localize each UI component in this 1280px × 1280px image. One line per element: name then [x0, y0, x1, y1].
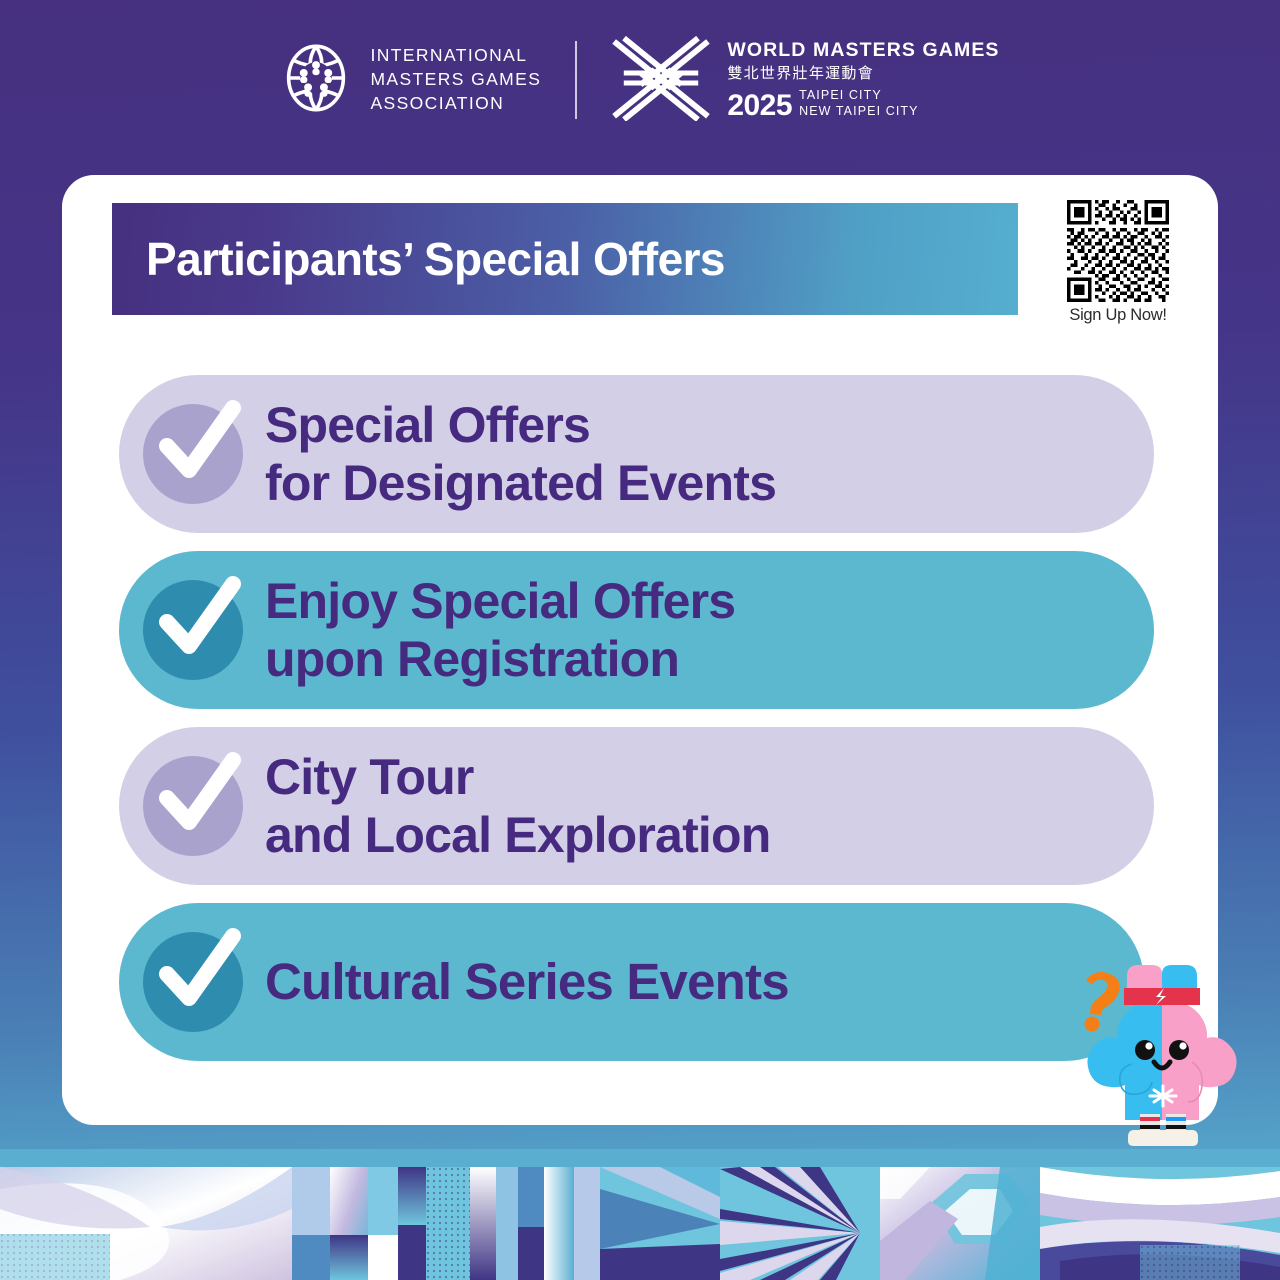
check-circle-icon [143, 580, 243, 680]
offer-item-4[interactable]: Cultural Series Events [119, 903, 1144, 1061]
offer-item-1[interactable]: Special Offers for Designated Events [119, 375, 1154, 533]
wmg-butterfly-icon [611, 35, 711, 126]
offers-list: Special Offers for Designated Events Enj… [119, 375, 1159, 1061]
wmg-mascot-icon [1062, 962, 1262, 1152]
imga-line-3: ASSOCIATION [370, 92, 541, 116]
check-circle-icon [143, 932, 243, 1032]
offer-label-4: Cultural Series Events [265, 952, 789, 1011]
offer-item-3[interactable]: City Tour and Local Exploration [119, 727, 1154, 885]
wmg-title: WORLD MASTERS GAMES [727, 39, 999, 61]
wmg-logo: WORLD MASTERS GAMES 雙北世界壯年運動會 2025 TAIPE… [611, 35, 999, 126]
imga-logo: INTERNATIONAL MASTERS GAMES ASSOCIATION [280, 42, 541, 119]
offer-label-1: Special Offers for Designated Events [265, 396, 776, 512]
imga-line-1: INTERNATIONAL [370, 44, 541, 68]
wmg-wordmark: WORLD MASTERS GAMES 雙北世界壯年運動會 2025 TAIPE… [727, 39, 999, 121]
signup-qr-block[interactable]: Sign Up Now! [1063, 200, 1173, 325]
qr-caption: Sign Up Now! [1069, 306, 1166, 325]
offer-label-2: Enjoy Special Offers upon Registration [265, 572, 735, 688]
logo-strip: INTERNATIONAL MASTERS GAMES ASSOCIATION [0, 0, 1280, 160]
imga-wordmark: INTERNATIONAL MASTERS GAMES ASSOCIATION [370, 44, 541, 115]
geometric-pattern-band [0, 1149, 1280, 1280]
wmg-city-1: TAIPEI CITY [799, 87, 919, 103]
card-header-bar: Participants’ Special Offers [112, 203, 1018, 315]
globe-people-icon [280, 42, 352, 119]
offer-item-2[interactable]: Enjoy Special Offers upon Registration [119, 551, 1154, 709]
check-circle-icon [143, 404, 243, 504]
logo-divider [575, 41, 577, 119]
wmg-chinese-title: 雙北世界壯年運動會 [727, 63, 999, 86]
offer-label-3: City Tour and Local Exploration [265, 748, 771, 864]
content-card: Participants’ Special Offers [62, 175, 1218, 1125]
qr-code-icon[interactable] [1067, 200, 1169, 302]
check-circle-icon [143, 756, 243, 856]
page-title: Participants’ Special Offers [112, 232, 725, 286]
wmg-city-2: NEW TAIPEI CITY [799, 103, 919, 119]
imga-line-2: MASTERS GAMES [370, 68, 541, 92]
wmg-year: 2025 [727, 92, 792, 121]
